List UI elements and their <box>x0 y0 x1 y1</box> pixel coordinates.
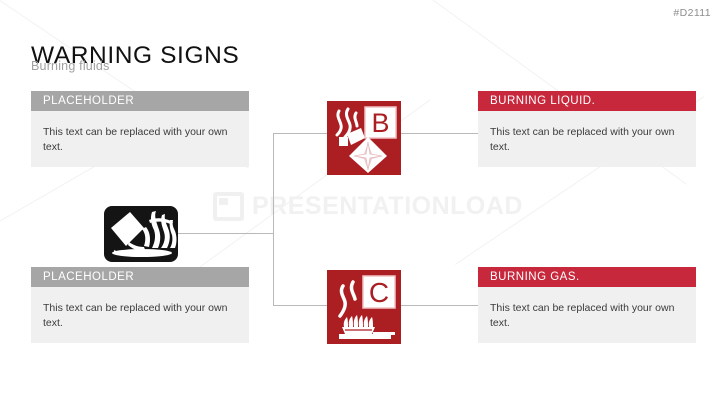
watermark-text: PRESENTATIONLOAD <box>252 192 523 221</box>
card-bottom-right-body[interactable]: This text can be replaced with your own … <box>478 287 696 343</box>
card-bottom-right: BURNING GAS. This text can be replaced w… <box>478 267 696 343</box>
pictogram-class-b-burning-liquid: B <box>327 101 401 175</box>
card-top-right-header: BURNING LIQUID. <box>478 91 696 111</box>
svg-text:B: B <box>371 108 389 138</box>
slide-canvas: #D2111 WARNING SIGNS Burning fluids PRES… <box>0 0 727 409</box>
card-bottom-right-header: BURNING GAS. <box>478 267 696 287</box>
presentationload-logo-icon <box>213 192 244 221</box>
connector-stub-top-right <box>399 133 479 134</box>
burning-gas-burner-icon: C <box>327 270 401 344</box>
connector-branch-top <box>273 133 331 134</box>
card-top-left: PLACEHOLDER This text can be replaced wi… <box>31 91 249 167</box>
connector-branch-middle <box>176 233 274 234</box>
card-bottom-left: PLACEHOLDER This text can be replaced wi… <box>31 267 249 343</box>
svg-text:C: C <box>369 277 389 308</box>
pictogram-class-c-burning-gas: C <box>327 270 401 344</box>
page-subtitle: Burning fluids <box>31 59 110 73</box>
watermark: PRESENTATIONLOAD <box>213 192 523 221</box>
card-top-right: BURNING LIQUID. This text can be replace… <box>478 91 696 167</box>
connector-branch-bottom <box>273 305 331 306</box>
card-top-left-header: PLACEHOLDER <box>31 91 249 111</box>
card-top-right-body[interactable]: This text can be replaced with your own … <box>478 111 696 167</box>
card-bottom-left-header: PLACEHOLDER <box>31 267 249 287</box>
card-top-left-body[interactable]: This text can be replaced with your own … <box>31 111 249 167</box>
card-bottom-left-body[interactable]: This text can be replaced with your own … <box>31 287 249 343</box>
connector-stub-bottom-right <box>399 305 479 306</box>
connector-trunk-vertical <box>273 133 274 305</box>
burning-fluids-bucket-pour-icon <box>104 206 178 262</box>
burning-liquid-extinguisher-icon: B <box>327 101 401 175</box>
document-code: #D2111 <box>673 7 711 19</box>
pictogram-burning-fluids-source <box>104 206 178 262</box>
